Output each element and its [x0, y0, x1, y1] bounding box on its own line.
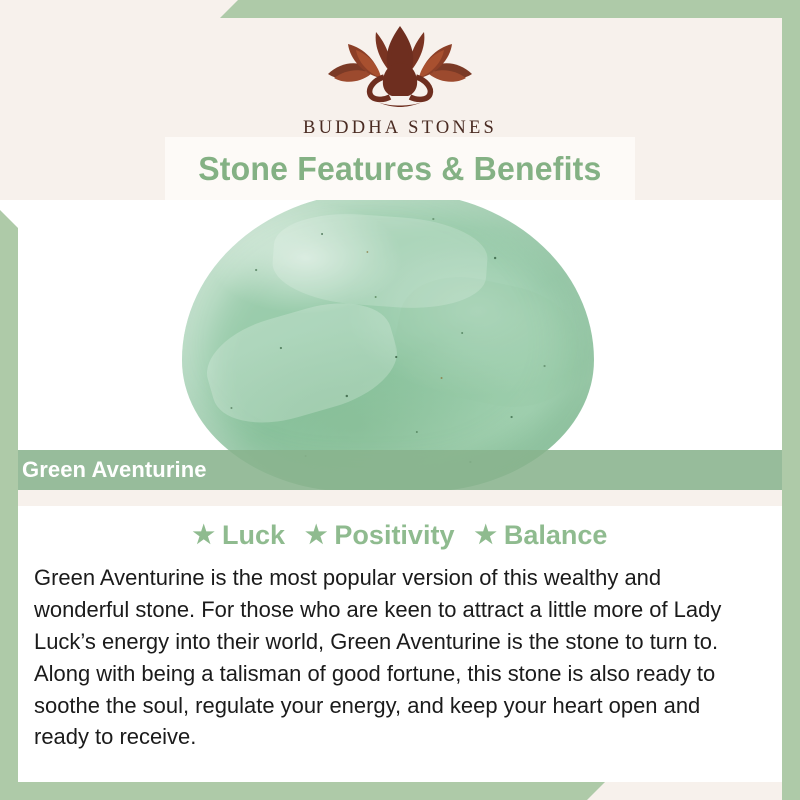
stone-speckle-texture — [182, 200, 594, 490]
brand-logo: BUDDHA STONES — [0, 22, 800, 139]
lotus-meditation-icon — [310, 22, 490, 114]
keyword-label: Balance — [504, 520, 608, 551]
decorative-band-left — [0, 210, 18, 800]
keyword-item-balance: ★ Balance — [474, 520, 607, 551]
page-title: Stone Features & Benefits — [198, 150, 601, 188]
star-icon: ★ — [474, 523, 496, 548]
keyword-item-luck: ★ Luck — [193, 520, 285, 551]
decorative-band-right — [782, 0, 800, 800]
keyword-label: Positivity — [334, 520, 454, 551]
keyword-label: Luck — [222, 520, 285, 551]
stone-features-infographic: BUDDHA STONES Stone Features & Benefits … — [0, 0, 800, 800]
star-icon: ★ — [193, 523, 215, 548]
keyword-item-positivity: ★ Positivity — [305, 520, 454, 551]
decorative-band-bottom — [0, 782, 605, 800]
green-aventurine-stone-image — [182, 200, 594, 490]
brand-wordmark: BUDDHA STONES — [0, 118, 800, 139]
content-area: ★ Luck ★ Positivity ★ Balance Green Aven… — [0, 506, 800, 782]
divider-strip — [0, 490, 800, 506]
stone-photo — [0, 200, 800, 490]
stone-name-label: Green Aventurine — [22, 457, 207, 483]
decorative-band-top — [220, 0, 800, 18]
stone-description: Green Aventurine is the most popular ver… — [34, 562, 759, 753]
keyword-list: ★ Luck ★ Positivity ★ Balance — [0, 520, 800, 551]
title-banner: Stone Features & Benefits — [165, 137, 635, 200]
stone-name-bar: Green Aventurine — [0, 450, 800, 490]
star-icon: ★ — [305, 523, 327, 548]
